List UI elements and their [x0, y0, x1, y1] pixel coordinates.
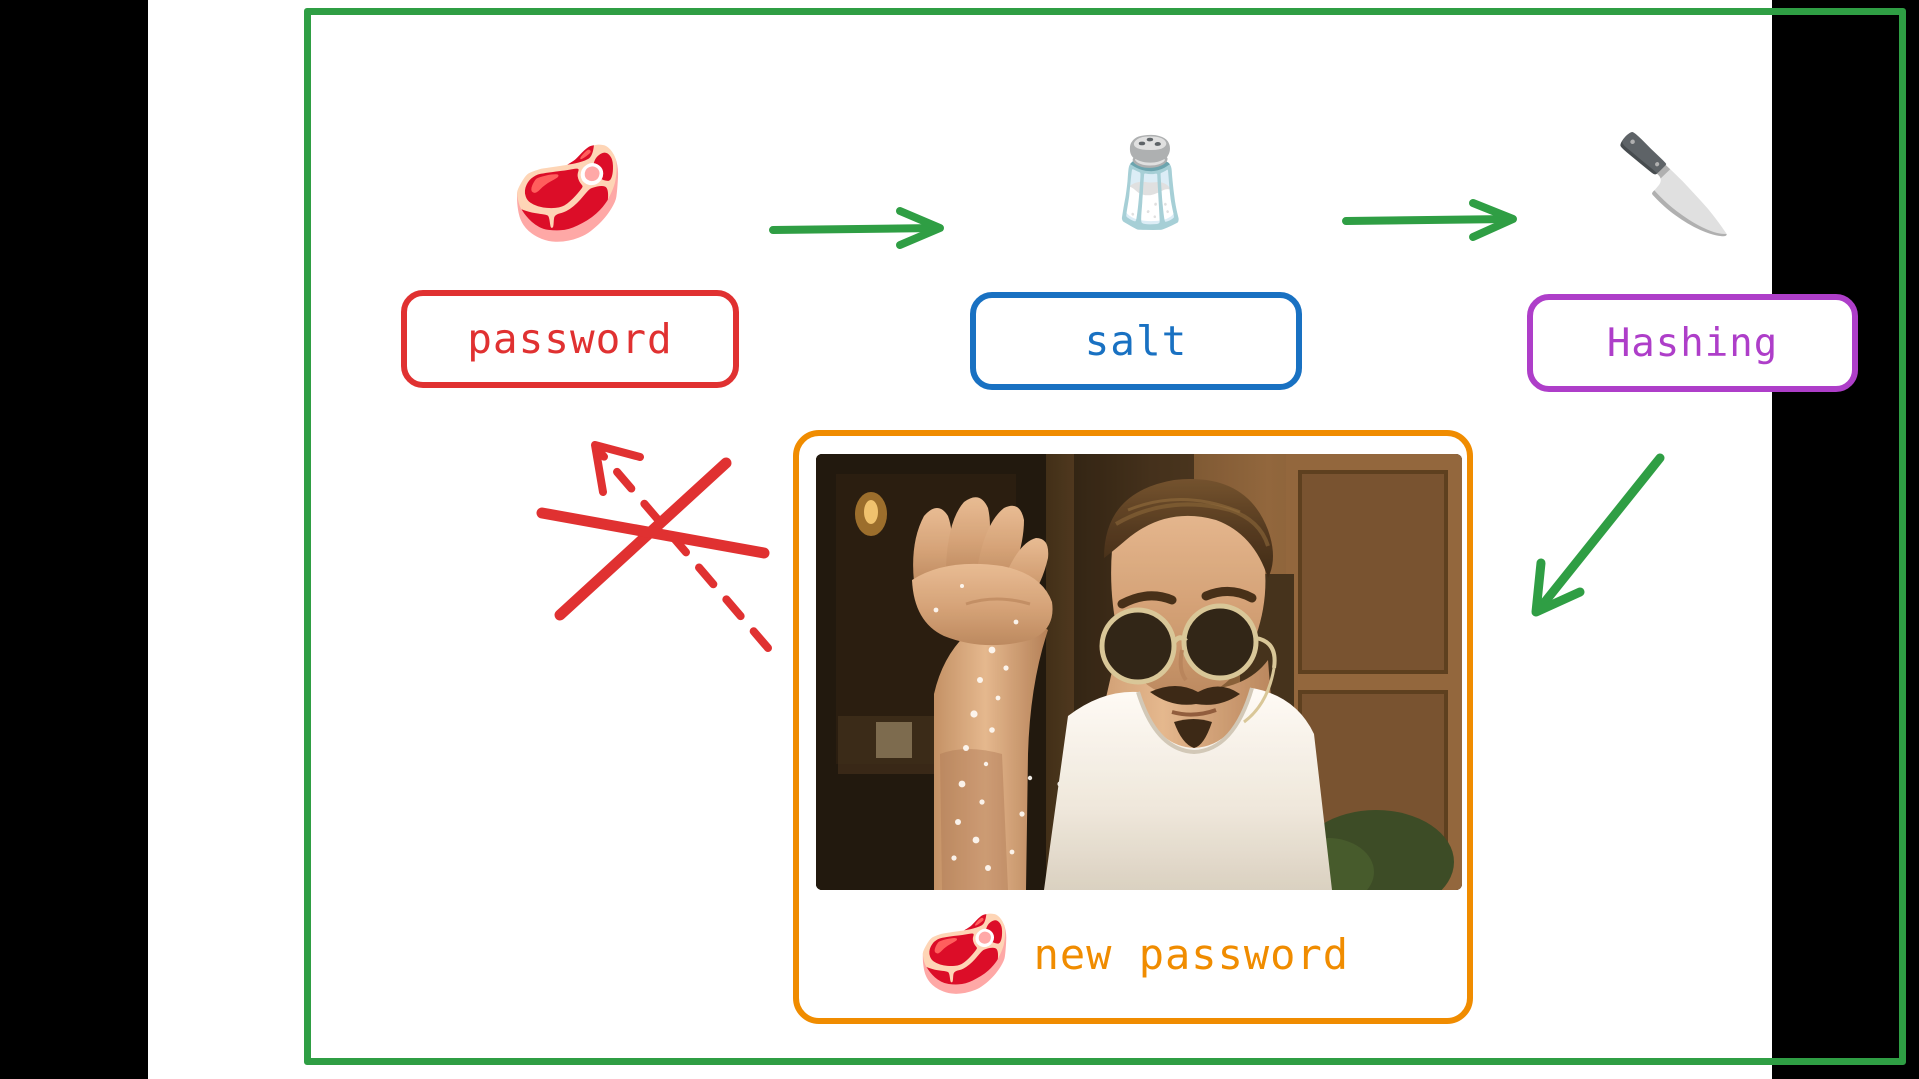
node-hashing[interactable]: Hashing — [1527, 294, 1858, 392]
screenshot-stage: 🥩 🧂 🔪 password salt Hashing — [0, 0, 1919, 1079]
card-new-password[interactable]: 🥩 new password — [793, 430, 1473, 1024]
kitchen-knife-icon: 🔪 — [1614, 136, 1734, 232]
node-hashing-label: Hashing — [1607, 324, 1778, 363]
node-salt-label: salt — [1085, 321, 1188, 362]
salt-shaker-icon: 🧂 — [1097, 140, 1204, 226]
card-caption-label: new password — [1034, 930, 1349, 979]
node-password[interactable]: password — [401, 290, 739, 388]
cooked-steak-icon: 🥩 — [917, 916, 1012, 992]
raw-steak-icon: 🥩 — [510, 148, 625, 240]
salt-bae-photo — [816, 454, 1462, 890]
slide-canvas: 🥩 🧂 🔪 password salt Hashing — [148, 0, 1772, 1079]
node-salt[interactable]: salt — [970, 292, 1302, 390]
node-password-label: password — [467, 319, 672, 360]
card-caption-row: 🥩 new password — [799, 916, 1467, 992]
